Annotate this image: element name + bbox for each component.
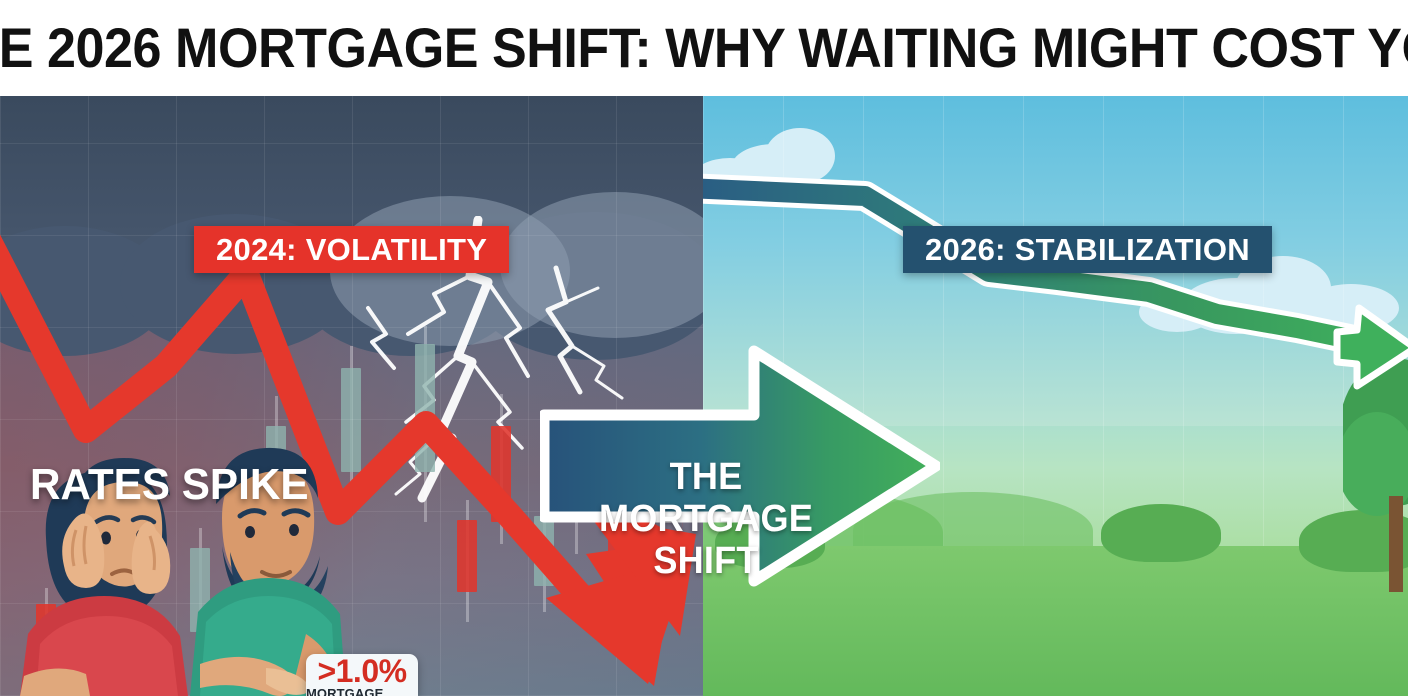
- badge-2026-stabilization: 2026: STABILIZATION: [903, 226, 1272, 273]
- arrow-label-line1: THE MORTGAGE: [599, 456, 813, 540]
- arrow-label: THE MORTGAGE SHIFT: [564, 456, 849, 582]
- rate-value: >1.0%: [317, 656, 406, 686]
- title-bar: THE 2026 MORTGAGE SHIFT: WHY WAITING MIG…: [0, 0, 1408, 96]
- rate-label: MORTGAGE RATE: [306, 686, 418, 696]
- arrow-label-line2: SHIFT: [653, 540, 758, 582]
- caption-rates-spike: RATES SPIKE: [30, 460, 309, 510]
- artwork-stage: >1.0% MORTGAGE RATE RATES SPIKE: [0, 96, 1408, 696]
- bush-shape: [1101, 504, 1221, 562]
- page-title: THE 2026 MORTGAGE SHIFT: WHY WAITING MIG…: [0, 20, 1408, 76]
- badge-2024-volatility: 2024: VOLATILITY: [194, 226, 509, 273]
- infographic-poster: THE 2026 MORTGAGE SHIFT: WHY WAITING MIG…: [0, 0, 1408, 696]
- mortgage-rate-callout: >1.0% MORTGAGE RATE: [306, 654, 418, 696]
